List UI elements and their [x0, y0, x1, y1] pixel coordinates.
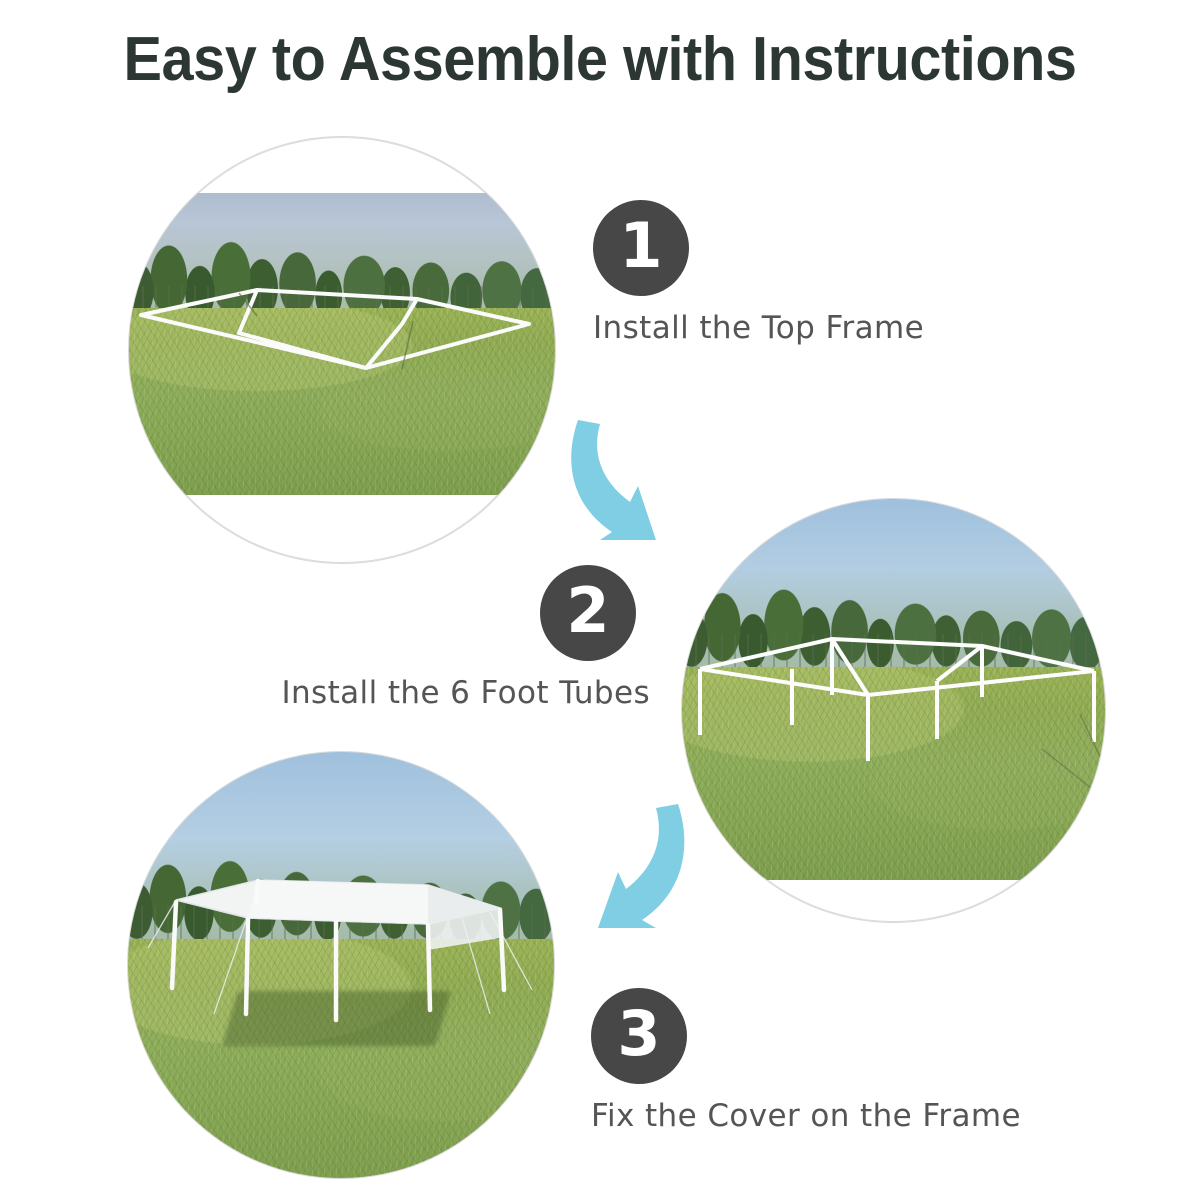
page-title: Easy to Assemble with Instructions: [42, 24, 1158, 96]
step-2-label: Install the 6 Foot Tubes: [245, 675, 650, 711]
standing-frame-tubes-illustration: [682, 499, 1105, 880]
step-2: 2 Install the 6 Foot Tubes: [245, 565, 650, 711]
step-3-photo: [128, 752, 554, 1178]
step-1-photo-image: [129, 193, 555, 495]
top-frame-tubes-illustration: [129, 193, 555, 495]
step-2-photo: [682, 499, 1105, 922]
step-1-photo: [129, 137, 555, 563]
curved-arrow-down-right-icon: [556, 408, 682, 548]
curved-arrow-down-left-icon: [572, 792, 702, 938]
step-1-number: 1: [619, 215, 662, 277]
step-1: 1 Install the Top Frame: [593, 200, 924, 346]
step-3-label: Fix the Cover on the Frame: [591, 1098, 1021, 1134]
arrow-step-1-to-2: [556, 408, 682, 548]
step-3-number: 3: [617, 1003, 660, 1065]
step-2-badge: 2: [540, 565, 636, 661]
step-3-photo-image: [128, 752, 554, 1178]
infographic-canvas: Easy to Assemble with Instructions: [0, 0, 1200, 1200]
step-3: 3 Fix the Cover on the Frame: [591, 988, 1021, 1134]
step-2-photo-image: [682, 499, 1105, 880]
step-1-badge: 1: [593, 200, 689, 296]
step-2-number: 2: [566, 580, 609, 642]
arrow-step-2-to-3: [572, 792, 702, 938]
step-1-label: Install the Top Frame: [593, 310, 924, 346]
step-3-badge: 3: [591, 988, 687, 1084]
canopy-tent-illustration: [128, 752, 554, 1178]
